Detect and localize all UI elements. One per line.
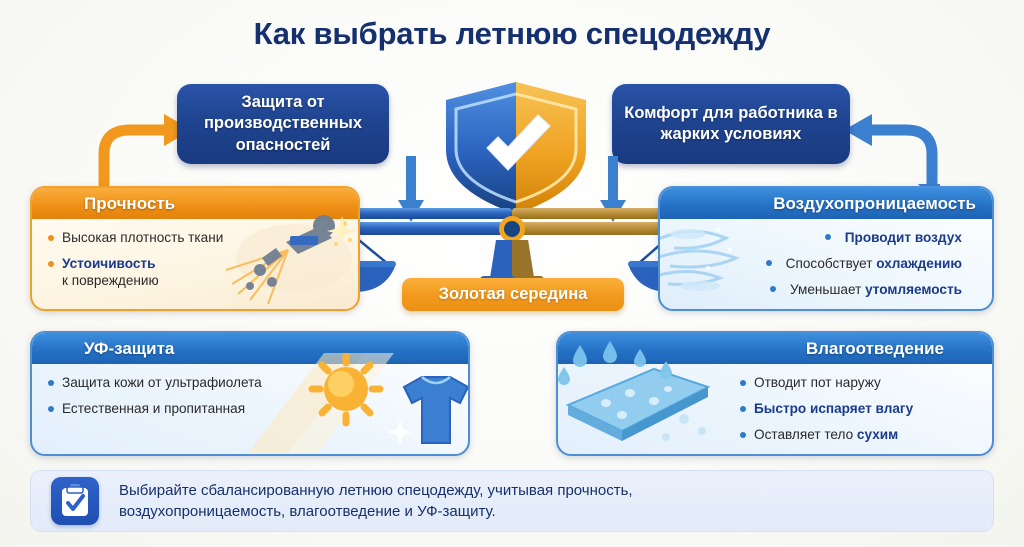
- list-item: Устоичивость к повреждению: [46, 255, 344, 289]
- card-breathability[interactable]: Воздухопроницаемость Проводит воздух: [658, 186, 994, 311]
- bullet-text: Способствует: [786, 256, 877, 271]
- header-box-protection[interactable]: Защита от производственных опасностей: [177, 84, 389, 164]
- header-box-comfort[interactable]: Комфорт для работника в жарких условиях: [612, 84, 850, 164]
- card-moisture-wicking-body: Отводит пот наружу Быстро испаряет влагу…: [558, 364, 992, 454]
- bullet-bold: Устоичивость: [62, 256, 155, 271]
- list-item: Защита кожи от ультрафиолета: [46, 374, 454, 391]
- list-item: Способствует охлаждению: [782, 255, 978, 272]
- bullet-text: Оставляет тело: [754, 427, 857, 442]
- bullet-bold: Проводит воздух: [845, 230, 962, 245]
- card-moisture-wicking[interactable]: Влагоотведение: [556, 331, 994, 456]
- footer-line-2: воздухопроницаемость, влагоотведение и У…: [119, 501, 633, 522]
- list-item: Отводит пот наружу: [738, 374, 978, 391]
- header-box-protection-label: Защита от производственных опасностей: [187, 92, 379, 155]
- shield-check-icon: [432, 78, 600, 218]
- footer-text: Выбирайте сбалансированную летнюю спецод…: [119, 480, 633, 523]
- list-item: Быстро испаряет влагу: [738, 400, 978, 417]
- card-strength-title: Прочность: [84, 194, 175, 214]
- clipboard-check-icon: [51, 477, 99, 525]
- card-uv-protection-body: Защита кожи от ультрафиолета Естественна…: [32, 364, 468, 454]
- card-uv-protection-header: УФ-защита: [32, 333, 468, 364]
- card-uv-protection-bullets: Защита кожи от ультрафиолета Естественна…: [46, 374, 454, 417]
- card-breathability-body: Проводит воздух Способствует охлаждению …: [660, 219, 992, 309]
- bullet-text: Отводит пот наружу: [754, 375, 881, 390]
- bullet-bold: охлаждению: [876, 256, 962, 271]
- bullet-bold: Быстро испаряет влагу: [754, 401, 913, 416]
- card-moisture-wicking-header: Влагоотведение: [558, 333, 992, 364]
- bullet-text: к повреждению: [62, 273, 159, 288]
- card-strength-header: Прочность: [32, 188, 358, 219]
- card-breathability-bullets: Проводит воздух Способствует охлаждению …: [674, 229, 978, 307]
- list-item: Уменьшает утомляемость: [786, 281, 978, 298]
- bullet-text: Уменьшает: [790, 282, 865, 297]
- list-item: Оставляет тело сухим: [738, 426, 978, 443]
- card-strength[interactable]: Прочность: [30, 186, 360, 311]
- list-item: Проводит воздух: [841, 229, 978, 246]
- card-strength-body: Высокая плотность ткани Устоичивость к п…: [32, 219, 358, 309]
- card-moisture-wicking-bullets: Отводит пот наружу Быстро испаряет влагу…: [738, 374, 978, 443]
- bullet-text: Защита кожи от ультрафиолета: [62, 375, 262, 390]
- card-moisture-wicking-title: Влагоотведение: [806, 339, 944, 359]
- bullet-bold: утомляемость: [865, 282, 962, 297]
- footer-line-1: Выбирайте сбалансированную летнюю спецод…: [119, 480, 633, 501]
- bullet-text: Высокая плотность ткани: [62, 230, 223, 245]
- golden-mean-label: Золотая середина: [439, 285, 588, 304]
- footer-summary: Выбирайте сбалансированную летнюю спецод…: [30, 470, 994, 532]
- card-breathability-header: Воздухопроницаемость: [660, 188, 992, 219]
- golden-mean-badge[interactable]: Золотая середина: [402, 278, 624, 311]
- header-box-comfort-label: Комфорт для работника в жарких условиях: [622, 103, 840, 145]
- card-strength-bullets: Высокая плотность ткани Устоичивость к п…: [46, 229, 344, 289]
- card-uv-protection-title: УФ-защита: [84, 339, 174, 359]
- bullet-bold: сухим: [857, 427, 898, 442]
- list-item: Высокая плотность ткани: [46, 229, 344, 246]
- card-breathability-title: Воздухопроницаемость: [773, 194, 976, 214]
- card-uv-protection[interactable]: УФ-защита: [30, 331, 470, 456]
- infographic-canvas: Как выбрать летнюю спецодежду Защита от …: [0, 0, 1024, 547]
- list-item: Естественная и пропитанная: [46, 400, 454, 417]
- bullet-text: Естественная и пропитанная: [62, 401, 245, 416]
- page-title: Как выбрать летнюю спецодежду: [0, 16, 1024, 52]
